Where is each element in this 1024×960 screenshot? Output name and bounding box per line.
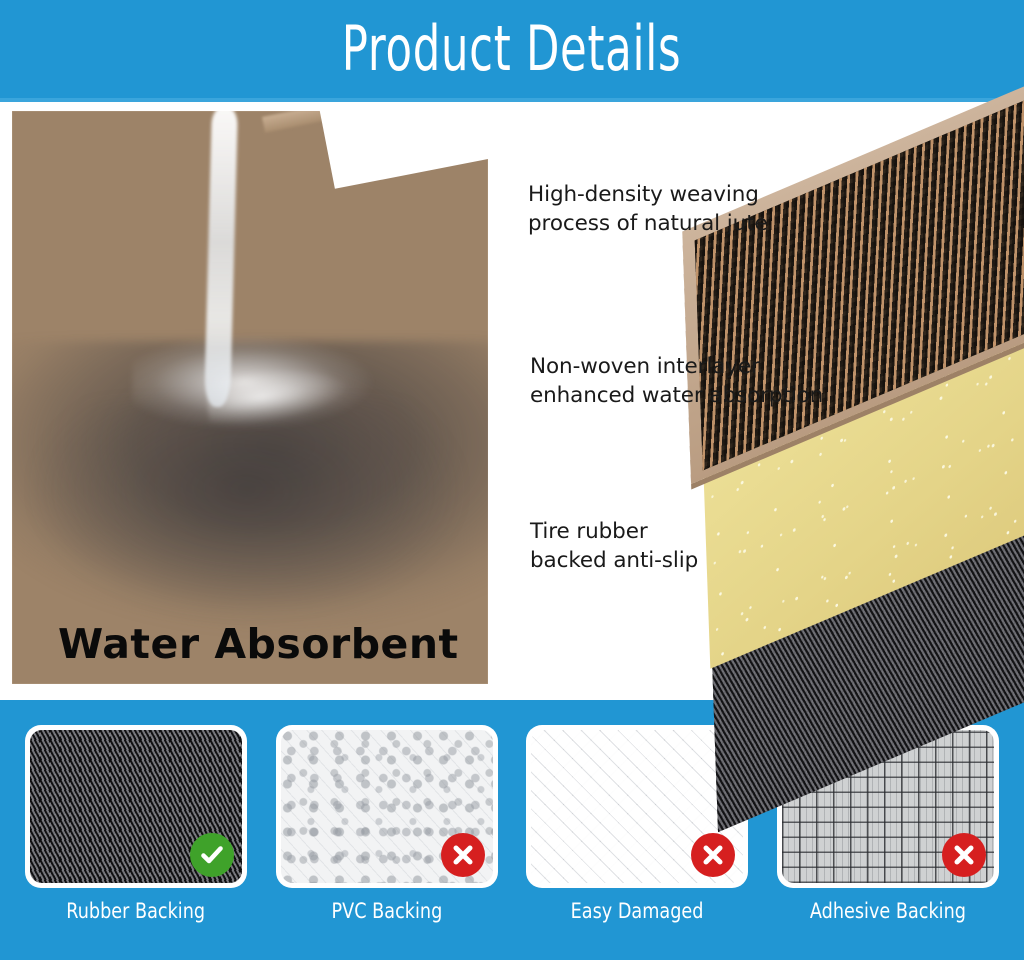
layer-diagram: High-density weaving process of natural … — [500, 102, 1024, 700]
cross-icon — [691, 833, 735, 877]
header-banner: Product Details — [0, 0, 1024, 98]
photo-caption: Water Absorbent — [58, 620, 459, 668]
swatch-texture-easy-damaged — [531, 730, 743, 883]
product-detail-section: Water Absorbent High-density weaving pro… — [0, 102, 1024, 700]
page-title: Product Details — [342, 18, 682, 80]
backing-label-pvc: PVC Backing — [331, 901, 442, 922]
layer-label-non-woven: Non-woven interlayer enhanced water abso… — [530, 352, 823, 410]
cross-icon — [942, 833, 986, 877]
swatch-frame — [276, 725, 498, 888]
check-icon — [190, 833, 234, 877]
layer-label-tire-rubber: Tire rubber backed anti-slip — [530, 517, 698, 575]
swatch-texture-rubber-backing — [30, 730, 242, 883]
cross-icon — [441, 833, 485, 877]
swatch-texture-pvc-backing — [281, 730, 493, 883]
backing-label-easy-damaged: Easy Damaged — [571, 901, 704, 922]
backing-card-pvc[interactable]: PVC Backing — [273, 725, 501, 922]
swatch-frame — [25, 725, 247, 888]
backing-label-adhesive: Adhesive Backing — [810, 901, 966, 922]
backing-card-rubber[interactable]: Rubber Backing — [22, 725, 250, 922]
backing-label-rubber: Rubber Backing — [67, 901, 206, 922]
water-absorbent-photo: Water Absorbent — [12, 111, 488, 684]
layer-label-jute: High-density weaving process of natural … — [528, 180, 768, 238]
